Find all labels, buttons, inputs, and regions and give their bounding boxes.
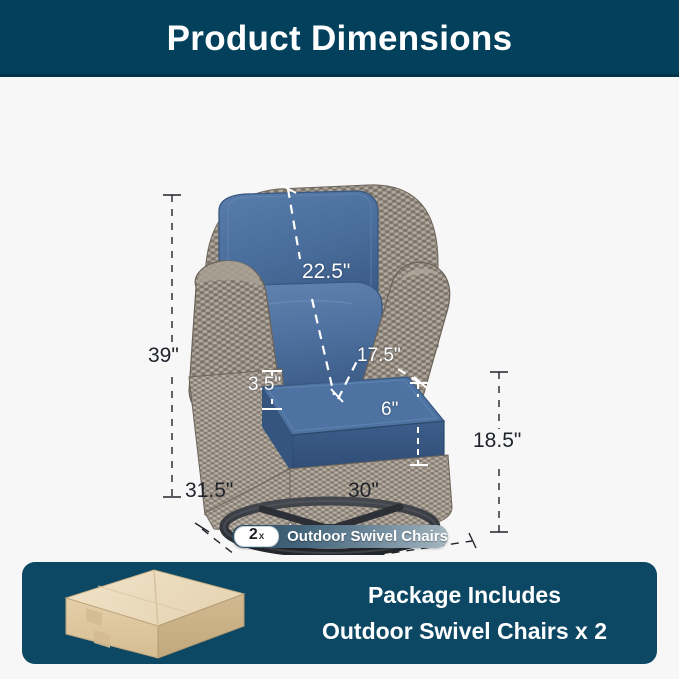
dimension-label-arm-width: 3.5"	[248, 374, 281, 396]
cardboard-box-icon	[58, 568, 248, 660]
package-contents: Outdoor Swivel Chairs x 2	[322, 620, 607, 643]
package-text-block: Package Includes Outdoor Swivel Chairs x…	[272, 562, 657, 664]
dimension-diagram: 39" 22.5" 17.5" 3.5" 6" 18.5" 31.5" 30"	[0, 77, 679, 555]
dimension-label-seat-depth: 17.5"	[357, 345, 401, 367]
dimension-label-backrest-height: 22.5"	[302, 260, 350, 284]
quantity-count: 2	[249, 527, 258, 543]
quantity-badge: 2 x Outdoor Swivel Chairs	[232, 525, 448, 548]
dimension-label-seat-height: 18.5"	[473, 429, 521, 453]
page-title: Product Dimensions	[167, 21, 513, 56]
quantity-pill: 2 x	[234, 526, 279, 547]
dimension-label-cushion-thickness: 6"	[381, 399, 398, 421]
quantity-multiplier: x	[259, 532, 265, 542]
dimension-label-overall-width: 30"	[348, 479, 379, 503]
package-includes-panel: Package Includes Outdoor Swivel Chairs x…	[22, 562, 657, 664]
quantity-label: Outdoor Swivel Chairs	[287, 528, 448, 545]
dimension-label-overall-depth: 31.5"	[185, 479, 233, 503]
page-header: Product Dimensions	[0, 0, 679, 77]
package-heading: Package Includes	[368, 584, 561, 607]
chair-illustration	[0, 77, 679, 555]
dimension-label-overall-height: 39"	[148, 344, 179, 368]
